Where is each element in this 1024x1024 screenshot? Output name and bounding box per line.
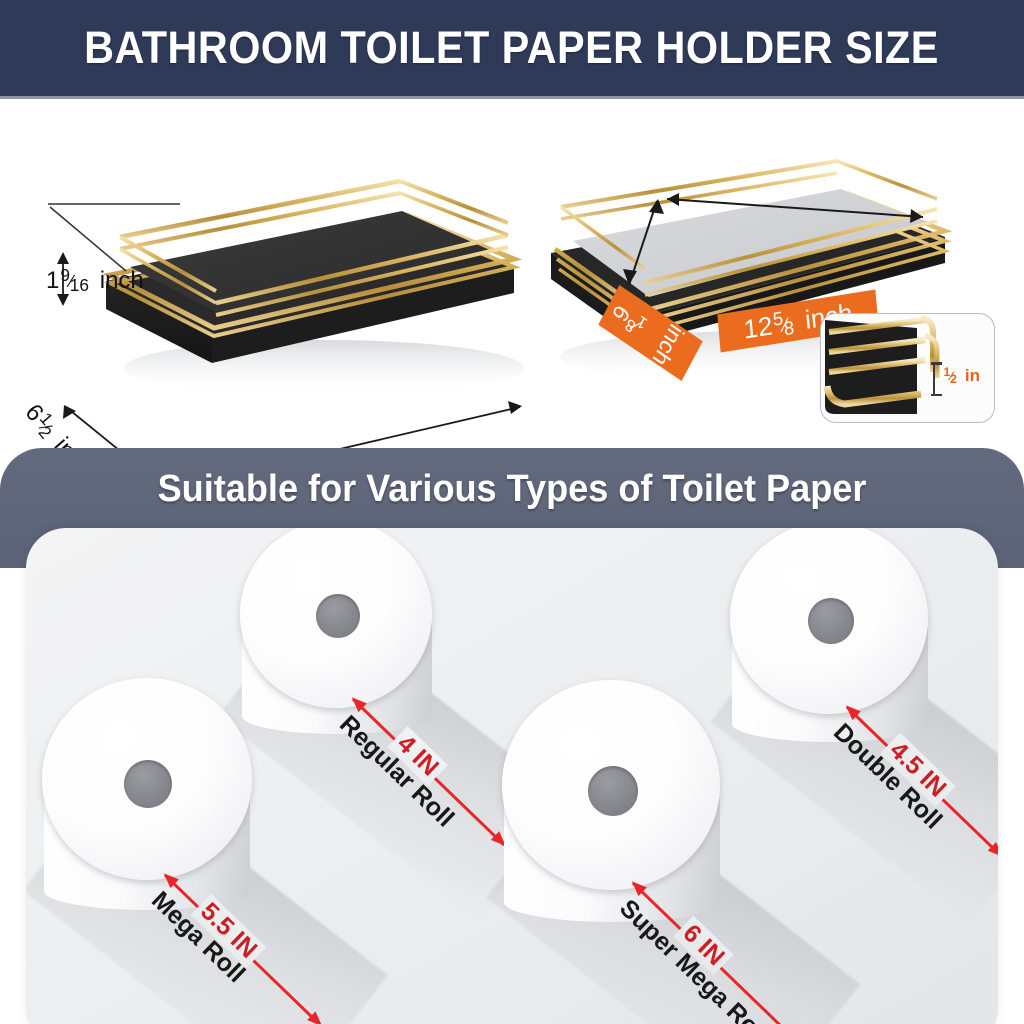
rolls-panel: 4 IN Regular Roll 5.5 IN Mega Roll (26, 528, 998, 1024)
badge-width-den: 8 (783, 316, 795, 339)
rail-height-detail-inset: 1⁄2 in (820, 313, 995, 423)
dimension-label-thickness: 19⁄16 inch (46, 267, 144, 295)
roll-compatibility-section: Suitable for Various Types of Toilet Pap… (0, 448, 1024, 1024)
roll-hole-mega (124, 760, 172, 808)
section-banner-title: Suitable for Various Types of Toilet Pap… (26, 468, 999, 511)
dim-thickness-num: 9 (60, 265, 70, 285)
roll-hole-super-mega (588, 766, 638, 816)
dim-thickness-unit: inch (100, 267, 144, 294)
badge-width-whole: 12 (742, 310, 773, 344)
inset-den: 2 (950, 372, 957, 386)
dim-thickness-den: 16 (70, 275, 89, 295)
thickness-leader-lines (30, 159, 230, 339)
roll-hole-double (808, 598, 854, 644)
dim-thickness-whole: 1 (46, 267, 59, 294)
inset-unit: in (965, 366, 980, 385)
infographic-page: BATHROOM TOILET PAPER HOLDER SIZE (0, 0, 1024, 1024)
dimension-diagram-section: 19⁄16 inch 61⁄2 inch 13 inch 61⁄8 inch 1… (0, 99, 1024, 448)
roll-hole-regular (316, 594, 360, 638)
header-bar: BATHROOM TOILET PAPER HOLDER SIZE (0, 0, 1024, 96)
inset-dimension-label: 1⁄2 in (942, 366, 980, 386)
page-title: BATHROOM TOILET PAPER HOLDER SIZE (85, 22, 940, 74)
dim-depth-den: 2 (35, 422, 56, 442)
